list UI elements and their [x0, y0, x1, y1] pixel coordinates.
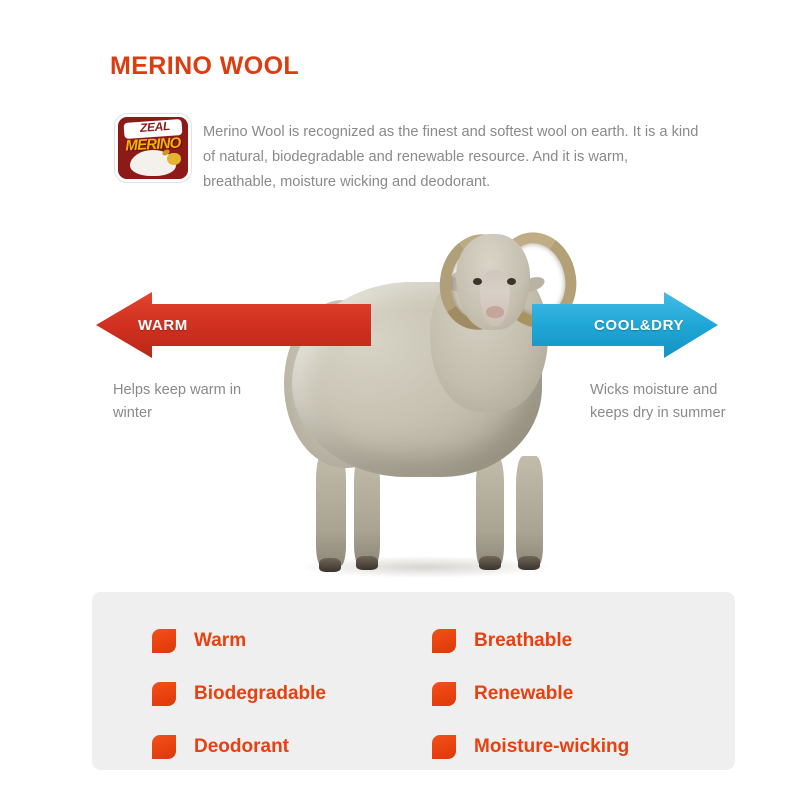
- bullet-icon: [432, 735, 456, 759]
- bullet-icon: [432, 682, 456, 706]
- list-item: Renewable: [432, 667, 629, 720]
- feature-label: Biodegradable: [194, 683, 326, 705]
- cooldry-caption: Wicks moisture and keeps dry in summer: [590, 379, 730, 425]
- bullet-icon: [152, 682, 176, 706]
- warm-caption: Helps keep warm in winter: [113, 379, 283, 425]
- list-item: Biodegradable: [152, 667, 326, 720]
- feature-label: Breathable: [474, 630, 572, 652]
- sheep-hoof-front-left: [479, 556, 501, 570]
- sheep-leg-front-right: [516, 456, 543, 566]
- list-item: Deodorant: [152, 720, 326, 773]
- feature-label: Warm: [194, 630, 246, 652]
- sheep-leg-front-left: [476, 454, 504, 566]
- bullet-icon: [152, 629, 176, 653]
- merino-ram-illustration: [280, 204, 580, 569]
- list-item: Warm: [152, 614, 326, 667]
- cooldry-arrow-banner: COOL&DRY: [532, 292, 718, 358]
- feature-label: Deodorant: [194, 736, 289, 758]
- feature-panel: Warm Biodegradable Deodorant Breathable …: [92, 592, 735, 770]
- bullet-icon: [432, 629, 456, 653]
- cooldry-arrow-label: COOL&DRY: [594, 317, 684, 334]
- sheep-hoof-front-right: [518, 556, 540, 570]
- feature-column-left: Warm Biodegradable Deodorant: [152, 614, 326, 773]
- sheep-hoof-back-left: [319, 558, 341, 572]
- feature-column-right: Breathable Renewable Moisture-wicking: [432, 614, 629, 773]
- product-infographic: MERINO WOOL ZEAL MERINO Merino Wool is r…: [0, 0, 800, 800]
- logo-sheep-icon: [130, 150, 176, 176]
- warm-arrow-banner: WARM: [96, 292, 371, 358]
- bullet-icon: [152, 735, 176, 759]
- page-title: MERINO WOOL: [110, 52, 299, 81]
- intro-paragraph: Merino Wool is recognized as the finest …: [203, 120, 701, 195]
- list-item: Moisture-wicking: [432, 720, 629, 773]
- feature-label: Renewable: [474, 683, 573, 705]
- list-item: Breathable: [432, 614, 629, 667]
- sheep-hoof-back-right: [356, 556, 378, 570]
- sheep-eye-left: [473, 278, 482, 285]
- warm-arrow-label: WARM: [138, 317, 188, 334]
- sheep-muzzle: [486, 306, 504, 318]
- brand-logo: ZEAL MERINO: [111, 108, 189, 180]
- sheep-eye-right: [507, 278, 516, 285]
- feature-label: Moisture-wicking: [474, 736, 629, 758]
- logo-badge: ZEAL MERINO: [115, 114, 191, 182]
- logo-sheep-head-icon: [167, 153, 181, 165]
